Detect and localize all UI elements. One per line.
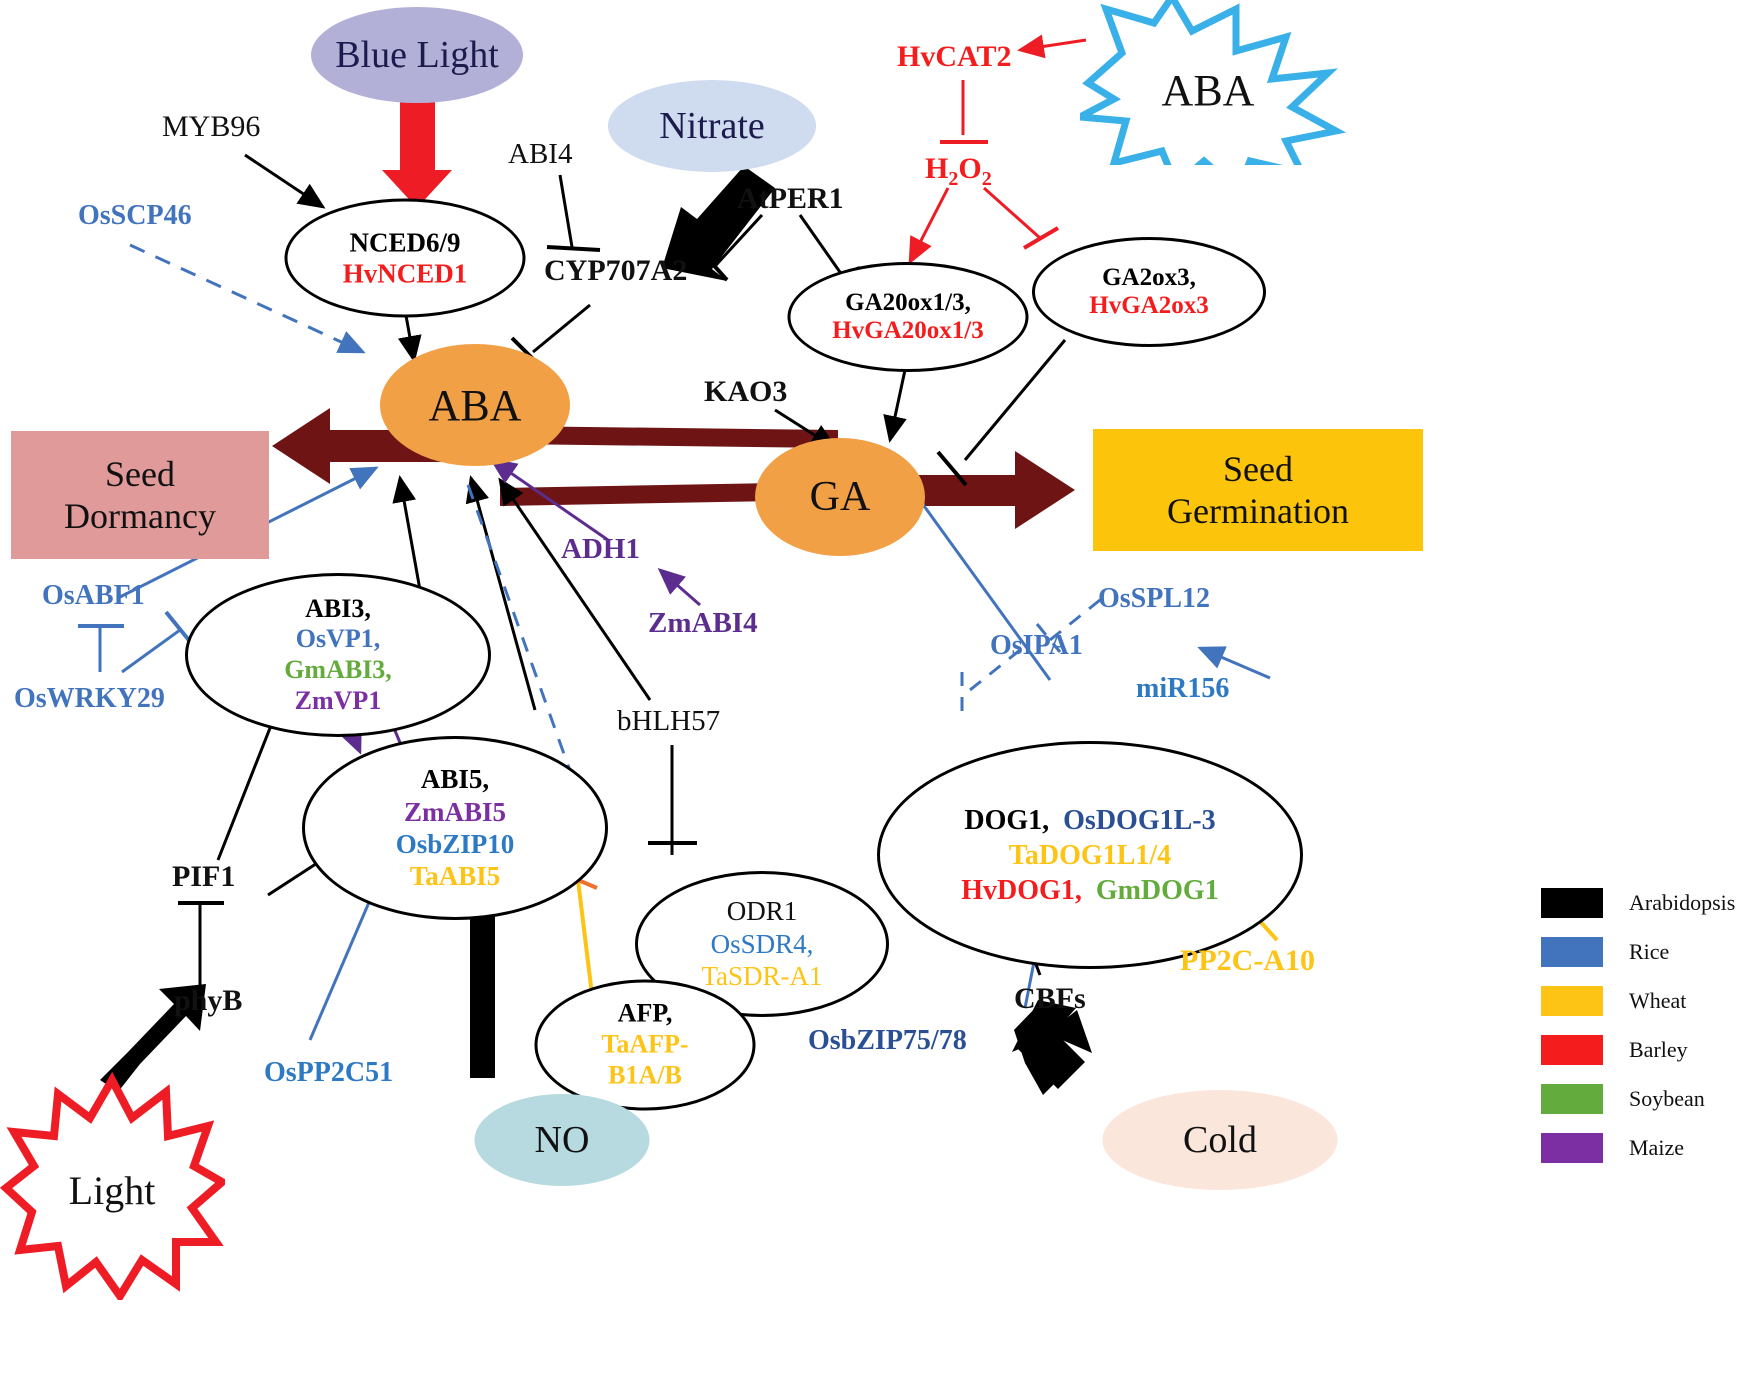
label-hvcat2[interactable]: HvCAT2 bbox=[897, 40, 1011, 74]
legend-swatch-soybean bbox=[1541, 1084, 1603, 1114]
dog1-line2: TaDOG1L1/4 bbox=[961, 838, 1218, 873]
abi3-line4: ZmVP1 bbox=[284, 686, 392, 717]
legend-label-wheat: Wheat bbox=[1629, 988, 1686, 1014]
odr1-line2: OsSDR4, bbox=[701, 928, 822, 960]
dog1-line3a: HvDOG1, bbox=[961, 875, 1082, 906]
abi3-line1: ABI3, bbox=[284, 594, 392, 625]
legend-label-barley: Barley bbox=[1629, 1037, 1688, 1063]
legend-item: Soybean bbox=[1541, 1084, 1735, 1114]
bluelight-arrow bbox=[382, 95, 452, 208]
label-osabf1[interactable]: OsABF1 bbox=[42, 580, 145, 611]
legend-label-maize: Maize bbox=[1629, 1135, 1684, 1161]
label-oswrky29[interactable]: OsWRKY29 bbox=[14, 683, 165, 714]
ga-label: GA bbox=[810, 473, 871, 521]
node-ga[interactable]: GA bbox=[755, 438, 925, 556]
label-mir156[interactable]: miR156 bbox=[1136, 673, 1229, 704]
cold-label: Cold bbox=[1183, 1118, 1257, 1162]
abi5-line4: TaABI5 bbox=[396, 860, 515, 892]
nced-line2: HvNCED1 bbox=[343, 258, 468, 289]
abi5-line3: OsbZIP10 bbox=[396, 828, 515, 860]
abi5-line1: ABI5, bbox=[396, 763, 515, 795]
ga2ox-line1: GA2ox3, bbox=[1089, 264, 1208, 292]
afp-line3: B1A/B bbox=[601, 1060, 688, 1091]
germination-line2: Germination bbox=[1167, 490, 1349, 532]
label-adh1[interactable]: ADH1 bbox=[561, 533, 640, 565]
blue-light-label: Blue Light bbox=[335, 33, 499, 77]
label-zmabi4[interactable]: ZmABI4 bbox=[648, 607, 758, 639]
label-abi4[interactable]: ABI4 bbox=[508, 138, 572, 170]
ga20ox-line2: HvGA20ox1/3 bbox=[832, 317, 983, 345]
aba-label: ABA bbox=[429, 380, 522, 431]
label-osbzip7578[interactable]: OsbZIP75/78 bbox=[808, 1025, 967, 1056]
stimulus-no[interactable]: NO bbox=[475, 1094, 650, 1186]
label-osipa1[interactable]: OsIPA1 bbox=[990, 630, 1083, 661]
outcome-seed-germination[interactable]: Seed Germination bbox=[1093, 429, 1423, 551]
legend-swatch-rice bbox=[1541, 937, 1603, 967]
outcome-seed-dormancy[interactable]: Seed Dormancy bbox=[11, 431, 269, 559]
label-osscp46[interactable]: OsSCP46 bbox=[78, 200, 192, 231]
legend-swatch-arabidopsis bbox=[1541, 888, 1603, 918]
nitrate-label: Nitrate bbox=[659, 104, 765, 148]
label-pp2ca10[interactable]: PP2C-A10 bbox=[1180, 944, 1315, 978]
label-bhlh57[interactable]: bHLH57 bbox=[617, 705, 720, 737]
afp-line1: AFP, bbox=[601, 999, 688, 1030]
node-afp[interactable]: AFP, TaAFP- B1A/B bbox=[535, 980, 756, 1111]
stimulus-aba-burst[interactable]: ABA bbox=[1080, 0, 1390, 165]
no-label: NO bbox=[535, 1118, 590, 1162]
node-abi5[interactable]: ABI5, ZmABI5 OsbZIP10 TaABI5 bbox=[302, 736, 608, 920]
stimulus-cold[interactable]: Cold bbox=[1103, 1090, 1338, 1190]
label-ospp2c51[interactable]: OsPP2C51 bbox=[264, 1057, 393, 1088]
stimulus-blue-light[interactable]: Blue Light bbox=[311, 7, 523, 103]
stimulus-light[interactable]: Light bbox=[0, 1070, 225, 1300]
node-abi3[interactable]: ABI3, OsVP1, GmABI3, ZmVP1 bbox=[185, 573, 491, 737]
h2o2-o: O bbox=[958, 152, 981, 185]
dormancy-line2: Dormancy bbox=[64, 495, 216, 537]
dog1-line1a: DOG1, bbox=[964, 805, 1049, 836]
ga2ox-line2: HvGA2ox3 bbox=[1089, 292, 1208, 320]
legend-swatch-barley bbox=[1541, 1035, 1603, 1065]
node-ga20ox[interactable]: GA20ox1/3, HvGA20ox1/3 bbox=[788, 262, 1029, 372]
legend-swatch-maize bbox=[1541, 1133, 1603, 1163]
diagram-canvas: Blue Light Nitrate ABA NCED6/9 HvNCED1 G… bbox=[0, 0, 1760, 1389]
legend-item: Barley bbox=[1541, 1035, 1735, 1065]
label-pif1[interactable]: PIF1 bbox=[172, 860, 235, 894]
label-kao3[interactable]: KAO3 bbox=[704, 375, 787, 409]
legend-label-arabidopsis: Arabidopsis bbox=[1629, 890, 1735, 916]
abi5-line2: ZmABI5 bbox=[396, 796, 515, 828]
legend-label-soybean: Soybean bbox=[1629, 1086, 1705, 1112]
nced-line1: NCED6/9 bbox=[343, 227, 468, 258]
h2o2-sub2: 2 bbox=[982, 168, 992, 190]
node-nced[interactable]: NCED6/9 HvNCED1 bbox=[285, 199, 526, 318]
stimulus-nitrate[interactable]: Nitrate bbox=[608, 80, 816, 172]
label-myb96[interactable]: MYB96 bbox=[162, 110, 260, 144]
legend-label-rice: Rice bbox=[1629, 939, 1669, 965]
label-phyb[interactable]: phyB bbox=[174, 984, 242, 1018]
ga20ox-line1: GA20ox1/3, bbox=[832, 289, 983, 317]
light-label: Light bbox=[69, 1168, 156, 1213]
node-ga2ox[interactable]: GA2ox3, HvGA2ox3 bbox=[1032, 237, 1266, 347]
dog1-line1b: OsDOG1L-3 bbox=[1063, 805, 1215, 836]
label-h2o2[interactable]: H2O2 bbox=[925, 152, 992, 190]
node-dog1[interactable]: DOG1, OsDOG1L-3 TaDOG1L1/4 HvDOG1, GmDOG… bbox=[877, 741, 1303, 969]
odr1-line3: TaSDR-A1 bbox=[701, 960, 822, 992]
odr1-line1: ODR1 bbox=[701, 895, 822, 927]
label-osspl12[interactable]: OsSPL12 bbox=[1098, 583, 1210, 614]
h2o2-sub1: 2 bbox=[948, 168, 958, 190]
afp-line2: TaAFP- bbox=[601, 1030, 688, 1061]
dormancy-line1: Seed bbox=[64, 453, 216, 495]
aba-burst-label: ABA bbox=[1162, 66, 1255, 115]
label-atper1[interactable]: AtPER1 bbox=[737, 182, 844, 216]
dog1-line3b: GmDOG1 bbox=[1096, 875, 1219, 906]
node-aba[interactable]: ABA bbox=[380, 344, 570, 466]
abi3-line3: GmABI3, bbox=[284, 655, 392, 686]
legend-item: Arabidopsis bbox=[1541, 888, 1735, 918]
legend-item: Maize bbox=[1541, 1133, 1735, 1163]
legend-swatch-wheat bbox=[1541, 986, 1603, 1016]
legend-item: Rice bbox=[1541, 937, 1735, 967]
legend: Arabidopsis Rice Wheat Barley Soybean Ma… bbox=[1541, 888, 1735, 1182]
h2o2-h: H bbox=[925, 152, 948, 185]
label-cbfs[interactable]: CBFs bbox=[1014, 982, 1086, 1016]
legend-item: Wheat bbox=[1541, 986, 1735, 1016]
label-cyp707a2[interactable]: CYP707A2 bbox=[544, 254, 687, 288]
abi3-line2: OsVP1, bbox=[284, 624, 392, 655]
germination-line1: Seed bbox=[1167, 448, 1349, 490]
